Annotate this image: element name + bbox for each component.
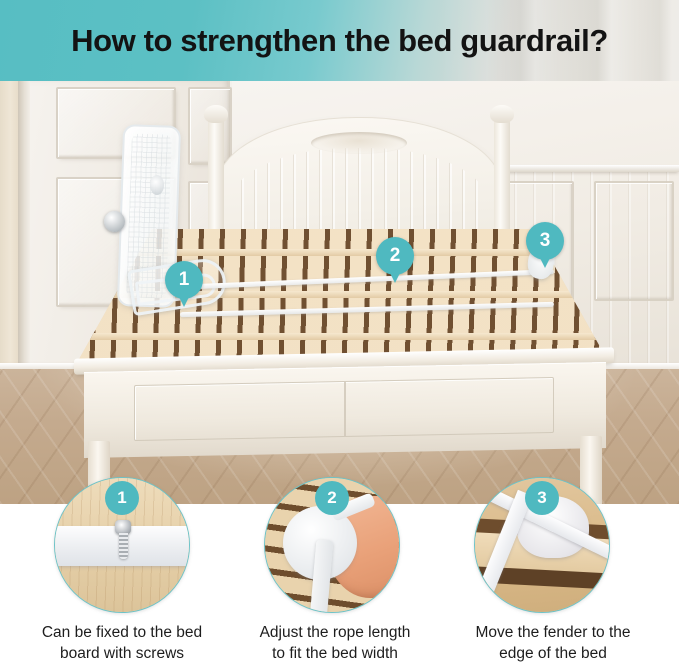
wall-panel-right-2	[594, 181, 674, 301]
thumb1-screw-head	[115, 520, 131, 534]
step-badge-2[interactable]: 2	[315, 481, 349, 515]
step-caption-3-line2: edge of the bed	[440, 643, 666, 664]
main-product-photo: 1 2 3	[0, 81, 679, 504]
step-caption-2-line1: Adjust the rope length	[222, 622, 448, 643]
step-badge-1[interactable]: 1	[105, 481, 139, 515]
bed-footboard-panel	[84, 362, 606, 458]
step-caption-3: Move the fender to the edge of the bed	[440, 622, 666, 664]
step-caption-2: Adjust the rope length to fit the bed wi…	[222, 622, 448, 664]
guardrail-upper-knob	[150, 175, 164, 195]
photo-pin-2[interactable]: 2	[376, 237, 414, 275]
footboard-inset-panel	[134, 377, 554, 441]
header-banner: How to strengthen the bed guardrail?	[0, 0, 679, 81]
page-title: How to strengthen the bed guardrail?	[0, 0, 679, 81]
photo-pin-1[interactable]: 1	[165, 261, 203, 299]
step-caption-1-line1: Can be fixed to the bed	[9, 622, 235, 643]
step-caption-1-line2: board with screws	[9, 643, 235, 664]
photo-pin-3[interactable]: 3	[526, 222, 564, 260]
step-badge-3[interactable]: 3	[525, 481, 559, 515]
step-caption-3-line1: Move the fender to the	[440, 622, 666, 643]
step-caption-2-line2: to fit the bed width	[222, 643, 448, 664]
infographic-page: How to strengthen the bed guardrail?	[0, 0, 679, 665]
step-caption-1: Can be fixed to the bed board with screw…	[9, 622, 235, 664]
slat-crossbar-3	[78, 333, 608, 340]
headboard-carved-crest	[311, 132, 407, 154]
thumb1-screw-shaft	[119, 533, 128, 559]
